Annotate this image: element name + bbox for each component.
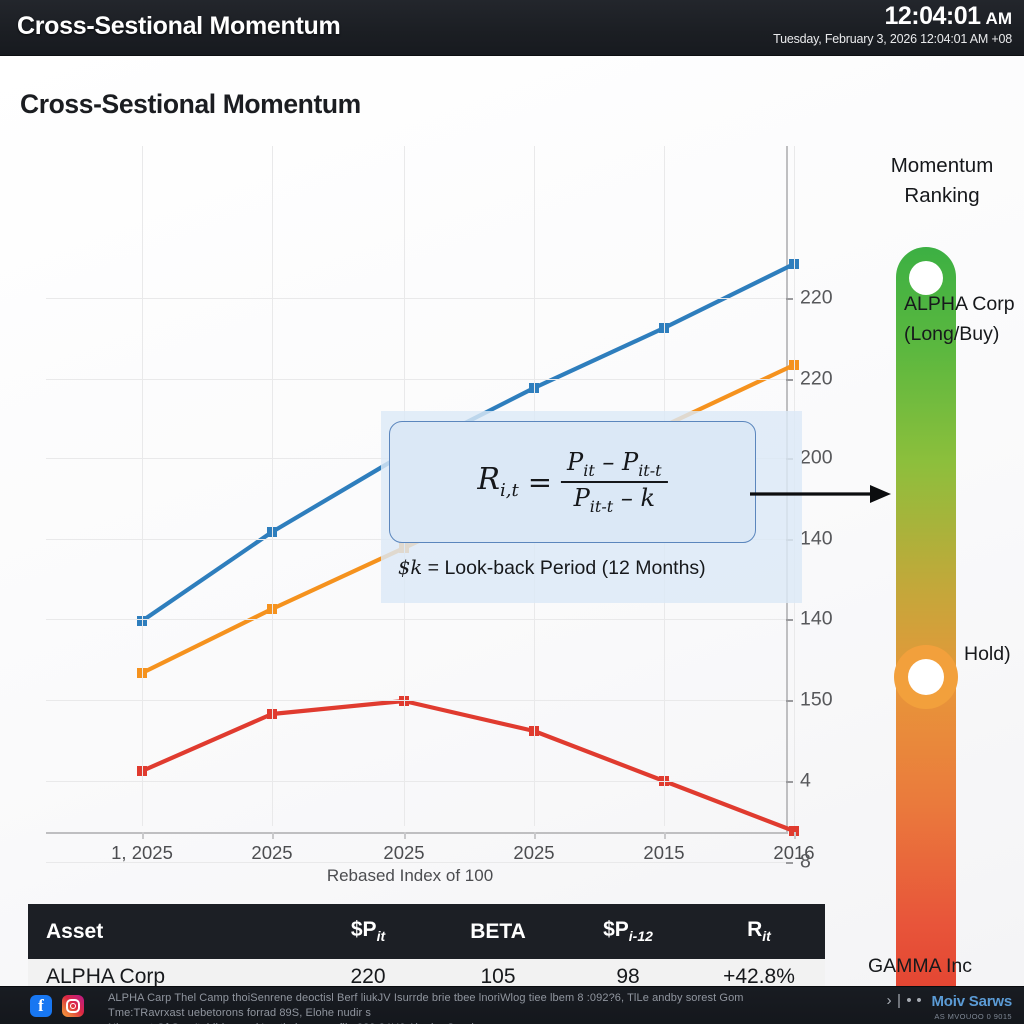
ticker-line-1: ALPHA Carp Thel Camp thoiSenrene deoctis…: [108, 991, 748, 1021]
broadcaster-mark: ›|••: [884, 993, 924, 1010]
x-axis-tick-label: 2025: [383, 842, 424, 864]
screen-root: Cross-Sestional Momentum 12:04:01AM Tues…: [0, 0, 1024, 1024]
formula-num-p2-sub: it-t: [638, 461, 661, 480]
formula-num-p1-sub: it: [583, 461, 595, 480]
page-title: Cross-Sestional Momentum: [20, 89, 361, 120]
grid-line-horizontal: [46, 298, 786, 299]
y-axis-tick: [786, 298, 793, 300]
x-axis-tick-label: 2015: [643, 842, 684, 864]
col-header-price-t12-label: $P: [603, 918, 629, 941]
broadcaster-logo: ›|••Moiv Sarws AS MVOUOO 0 9015: [884, 993, 1012, 1021]
y-axis-tick-label: 140: [800, 608, 833, 631]
col-header-return-label: R: [747, 918, 762, 941]
formula-num-p1: P: [567, 448, 583, 476]
table-header-row: Asset $Pit BETA $Pi-12 Rit: [28, 904, 825, 959]
instagram-lens: [70, 1003, 76, 1009]
x-axis-tick-label: 2025: [513, 842, 554, 864]
app-title: Cross-Sestional Momentum: [17, 12, 340, 41]
col-header-price-t12: $Pi-12: [563, 918, 693, 944]
formula-lhs: R: [477, 462, 500, 497]
grid-line-horizontal: [46, 379, 786, 380]
col-header-return-sub: it: [762, 929, 771, 945]
formula-equals: =: [528, 465, 552, 499]
instagram-icon[interactable]: [62, 995, 84, 1017]
momentum-formula: Ri,t = Pit – Pit-t Pit-t – k: [477, 447, 667, 517]
col-header-asset: Asset: [28, 920, 303, 944]
y-axis-tick: [786, 700, 793, 702]
y-axis-tick: [786, 619, 793, 621]
x-axis-tick-label: 2025: [251, 842, 292, 864]
facebook-icon[interactable]: f: [30, 995, 52, 1017]
ranking-label-alpha-line2: (Long/Buy): [904, 319, 1015, 349]
x-axis-tick: [404, 832, 406, 839]
ranking-label-hold: Hold): [964, 643, 1011, 666]
clock-time: 12:04:01: [884, 2, 980, 31]
cell-return: +42.8%: [693, 965, 825, 989]
grid-line-horizontal: [46, 781, 786, 782]
grid-line-vertical: [272, 146, 273, 826]
y-axis-tick-label: 140: [800, 528, 833, 551]
y-axis-tick-label: 220: [800, 287, 833, 310]
ranking-heading: Momentum Ranking: [860, 151, 1024, 211]
y-axis-tick-label: 150: [800, 689, 833, 712]
footer-ticker-bar: f ALPHA Carp Thel Camp thoiSenrene deoct…: [0, 986, 1024, 1024]
cell-beta: 105: [433, 965, 563, 989]
series-line: [142, 701, 794, 831]
y-axis-tick-label: 8: [800, 851, 811, 874]
formula-callout-box: Ri,t = Pit – Pit-t Pit-t – k: [389, 421, 756, 543]
formula-num-op: –: [602, 448, 614, 476]
y-axis-tick: [786, 862, 793, 864]
col-header-beta: BETA: [433, 920, 563, 944]
ranking-label-gamma-line1: GAMMA Inc: [868, 951, 972, 981]
formula-den-p1-sub: it-t: [590, 497, 613, 516]
y-axis-tick: [786, 379, 793, 381]
clock-ampm: AM: [986, 9, 1012, 29]
ranking-marker-mid[interactable]: [908, 659, 944, 695]
cell-price-t12: 98: [563, 965, 693, 989]
col-header-price-t-sub: it: [377, 929, 386, 945]
col-header-asset-label: Asset: [46, 920, 103, 943]
ranking-label-alpha: ALPHA Corp (Long/Buy): [904, 289, 1015, 349]
clock-date: Tuesday, February 3, 2026 12:04:01 AM +0…: [773, 32, 1012, 46]
broadcaster-subtext: AS MVOUOO 0 9015: [884, 1012, 1012, 1021]
y-axis-tick-label: 200: [800, 447, 833, 470]
lookback-note: $k = Look-back Period (12 Months): [398, 556, 706, 580]
y-axis-tick-label: 4: [800, 770, 811, 793]
broadcaster-name: Moiv Sarws: [931, 993, 1012, 1010]
lookback-note-text: = Look-back Period (12 Months): [422, 557, 705, 579]
col-header-beta-label: BETA: [470, 920, 526, 943]
col-header-return: Rit: [693, 918, 825, 944]
col-header-price-t: $Pit: [303, 918, 433, 944]
ranking-heading-line2: Ranking: [860, 181, 1024, 211]
formula-den-op: –: [621, 484, 633, 512]
formula-num-p2: P: [622, 448, 638, 476]
formula-den-p1: P: [574, 484, 590, 512]
x-axis-tick: [534, 832, 536, 839]
x-axis-tick: [794, 832, 796, 839]
ranking-label-alpha-line1: ALPHA Corp: [904, 289, 1015, 319]
formula-lhs-sub: i,t: [500, 480, 519, 501]
slide-canvas: Cross-Sestional Momentum 1, 202520252025…: [0, 56, 1024, 986]
cell-asset: ALPHA Corp: [28, 965, 303, 989]
x-axis-tick-label: 1, 2025: [111, 842, 173, 864]
x-axis-title: Rebased Index of 100: [327, 866, 493, 886]
grid-line-horizontal: [46, 700, 786, 701]
grid-line-horizontal: [46, 862, 786, 863]
y-axis-tick-label: 220: [800, 368, 833, 391]
lookback-note-var: $k: [398, 556, 422, 579]
momentum-ranking-panel: Momentum Ranking ALPHA Corp (Long/Buy) H…: [860, 151, 1024, 1024]
grid-line-vertical: [142, 146, 143, 826]
col-header-price-t12-sub: i-12: [629, 929, 653, 945]
cell-price-t: 220: [303, 965, 433, 989]
ranking-gradient-bar[interactable]: [896, 247, 956, 1024]
col-header-price-t-label: $P: [351, 918, 377, 941]
top-bar: Cross-Sestional Momentum 12:04:01AM Tues…: [0, 0, 1024, 56]
x-axis-tick: [664, 832, 666, 839]
x-axis-tick: [142, 832, 144, 839]
x-axis-tick: [272, 832, 274, 839]
grid-line-horizontal: [46, 619, 786, 620]
ranking-heading-line1: Momentum: [860, 151, 1024, 181]
clock-widget: 12:04:01AM Tuesday, February 3, 2026 12:…: [773, 2, 1012, 46]
formula-den-k: k: [640, 484, 655, 512]
y-axis-tick: [786, 781, 793, 783]
ticker-text: ALPHA Carp Thel Camp thoiSenrene deoctis…: [108, 991, 748, 1024]
